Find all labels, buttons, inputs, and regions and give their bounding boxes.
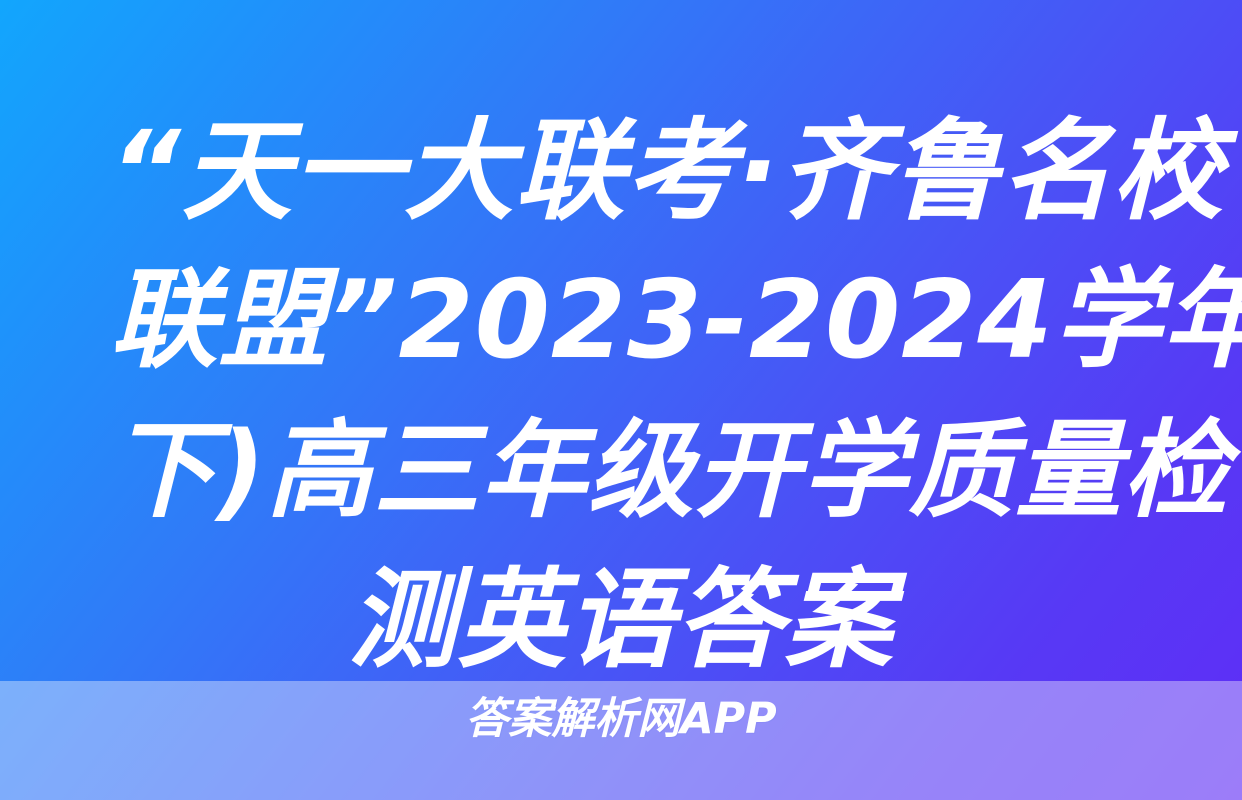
watermark-bar: 答案解析网APP [0, 681, 1242, 800]
title-line-3: 下)高三年级开学质量检 [110, 396, 1132, 546]
watermark-label: 答案解析网APP [465, 693, 776, 745]
title-line-1: “天一大联考·齐鲁名校 [110, 96, 1132, 246]
title-line-4: 测英语答案 [110, 546, 1132, 696]
page-title: “天一大联考·齐鲁名校 联盟”2023-2024学年( 下)高三年级开学质量检 … [0, 96, 1242, 696]
poster-canvas: “天一大联考·齐鲁名校 联盟”2023-2024学年( 下)高三年级开学质量检 … [0, 0, 1242, 800]
title-line-2: 联盟”2023-2024学年( [110, 246, 1132, 396]
